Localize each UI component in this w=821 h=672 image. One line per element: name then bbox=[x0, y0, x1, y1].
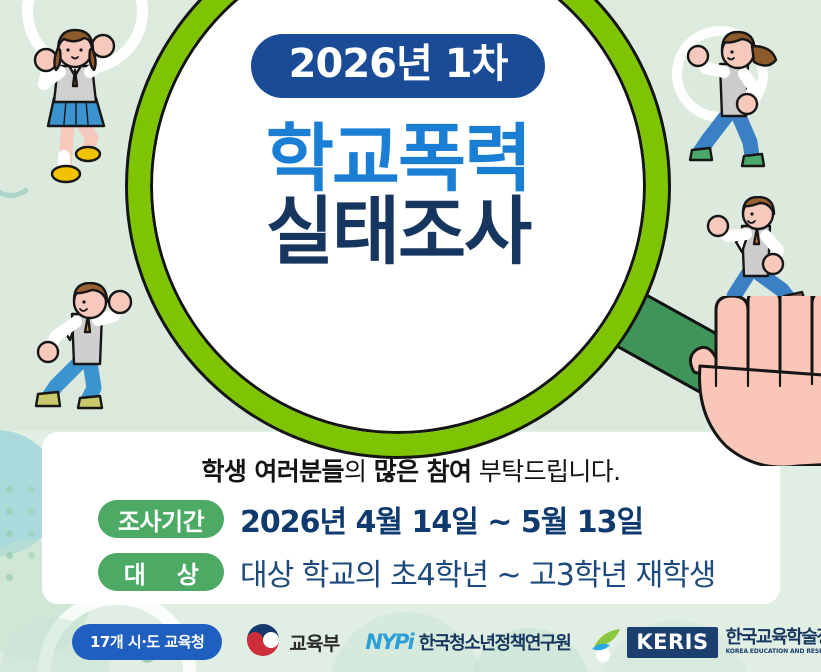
info-row-target: 대 상 대상 학교의 초4학년 ~ 고3학년 재학생 bbox=[42, 550, 780, 594]
illustration-student-mid-left bbox=[28, 282, 150, 424]
keris-leaf-icon bbox=[592, 627, 622, 657]
headline-normal-part-1: 의 bbox=[344, 457, 374, 486]
keris-mark: KERIS bbox=[627, 627, 717, 658]
keris-text-block: 한국교육학술정보원 KOREA EDUCATION AND RESEARCH I… bbox=[726, 629, 821, 655]
logo-label-keris-ko: 한국교육학술정보원 bbox=[726, 629, 821, 648]
label-survey-period: 조사기간 bbox=[98, 500, 224, 538]
label-survey-target: 대 상 bbox=[98, 553, 224, 591]
year-round-badge: 2026년 1차 bbox=[251, 34, 546, 98]
value-survey-target: 대상 학교의 초4학년 ~ 고3학년 재학생 bbox=[240, 550, 715, 594]
poster-root: 2026년 1차 학교폭력 실태조사 학생 여러분들의 많은 참여 부탁드립니다… bbox=[0, 0, 821, 672]
logo-nypi: NYPi 한국청소년정책연구원 bbox=[365, 629, 570, 655]
headline-bold-part-1: 학생 여러분들 bbox=[201, 457, 344, 486]
headline-normal-part-2: 부탁드립니다. bbox=[471, 457, 620, 486]
logo-ministry-of-education: 교육부 bbox=[246, 623, 339, 661]
title-line-survey: 실태조사 bbox=[266, 193, 530, 272]
magnifier-lens: 2026년 1차 학교폭력 실태조사 bbox=[128, 0, 668, 456]
info-row-period: 조사기간 2026년 4월 14일 ~ 5월 13일 bbox=[42, 497, 780, 541]
lens-content: 2026년 1차 학교폭력 실태조사 bbox=[150, 0, 646, 434]
info-headline: 학생 여러분들의 많은 참여 부탁드립니다. bbox=[42, 452, 780, 488]
nypi-mark-icon: NYPi bbox=[365, 630, 412, 654]
logo-label-nypi: 한국청소년정책연구원 bbox=[419, 629, 571, 655]
page-title: 학교폭력 실태조사 bbox=[266, 120, 530, 272]
logo-label-moe: 교육부 bbox=[289, 629, 339, 656]
footer-pill-education-offices: 17개 시·도 교육청 bbox=[72, 624, 222, 660]
title-line-topic: 학교폭력 bbox=[266, 120, 530, 199]
taegeuk-icon bbox=[246, 623, 280, 661]
logo-label-keris-en: KOREA EDUCATION AND RESEARCH INFORMATION… bbox=[726, 649, 821, 655]
illustration-student-top-right bbox=[676, 30, 788, 180]
logo-keris: KERIS 한국교육학술정보원 KOREA EDUCATION AND RESE… bbox=[592, 627, 821, 658]
value-survey-period: 2026년 4월 14일 ~ 5월 13일 bbox=[240, 497, 643, 541]
headline-bold-part-2: 많은 참여 bbox=[374, 457, 472, 486]
illustration-student-top-left bbox=[18, 28, 136, 188]
footer: 17개 시·도 교육청 교육부 NYPi 한국청소년정책연구원 bbox=[0, 612, 821, 672]
info-panel: 학생 여러분들의 많은 참여 부탁드립니다. 조사기간 2026년 4월 14일… bbox=[42, 432, 780, 604]
illustration-hand bbox=[686, 296, 821, 470]
